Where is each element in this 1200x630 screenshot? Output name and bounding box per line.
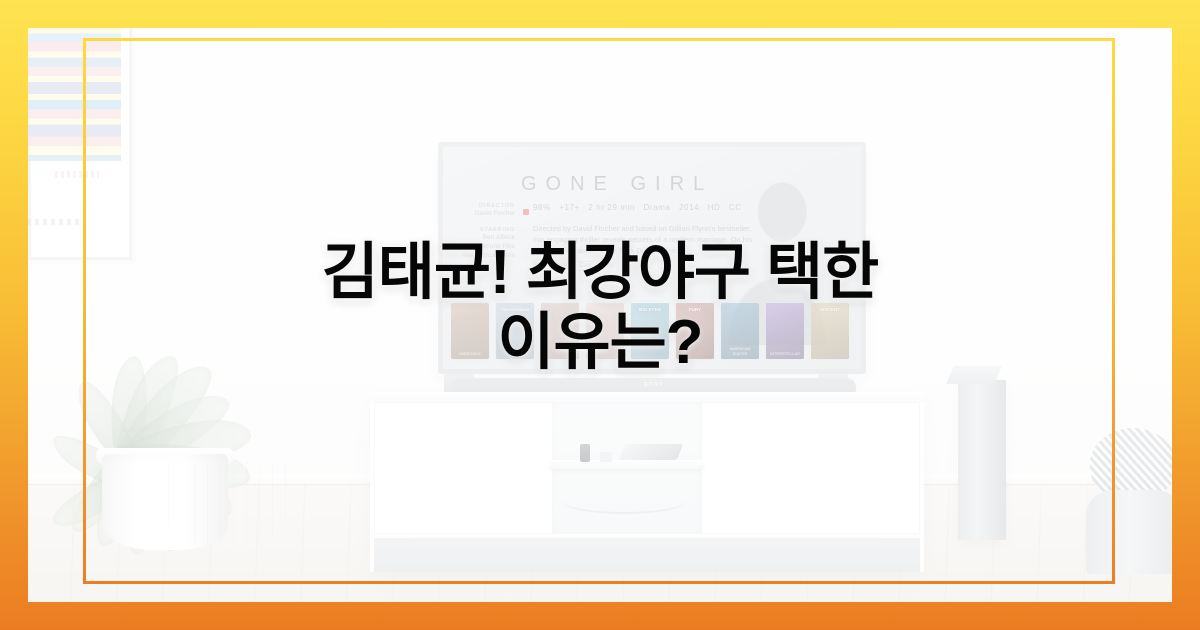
poster-bottom-text: AMERICAN SNIPER	[723, 346, 757, 356]
thumbnail-card: GONE GIRL 98% +17+ 2 hr 29 min Drama 201…	[0, 0, 1200, 630]
credit-value-star-2: Rosamund Pike	[453, 243, 515, 250]
rating-dot-icon	[523, 209, 529, 215]
credit-value-star-1: Ben Affleck	[453, 234, 515, 241]
list-item[interactable]: FURY	[676, 303, 714, 359]
small-device-box	[600, 452, 612, 462]
console-shelf	[550, 460, 704, 469]
console-plinth	[374, 538, 920, 572]
chip-cast[interactable]: Cast	[574, 261, 596, 271]
tv-screen: GONE GIRL 98% +17+ 2 hr 29 min Drama 201…	[443, 147, 861, 369]
age-rating: +17+	[559, 203, 580, 212]
list-item[interactable]: BIG EYES	[631, 303, 669, 359]
artwork-signature	[55, 171, 99, 178]
list-item[interactable]	[586, 303, 624, 359]
genre: Drama	[644, 203, 671, 212]
list-item[interactable]	[541, 303, 579, 359]
list-item[interactable]: AMERICAN SNIPER	[721, 303, 759, 359]
credit-value-director: David Fincher	[453, 210, 515, 217]
television: GONE GIRL 98% +17+ 2 hr 29 min Drama 201…	[438, 142, 866, 374]
chip-watch-trailer[interactable]: Watch Trailer	[533, 262, 568, 270]
duration: 2 hr 29 min	[588, 203, 635, 212]
speaker-top-cap	[946, 366, 1002, 384]
chip-add[interactable]: Add	[602, 262, 613, 270]
tv-console	[370, 392, 924, 572]
photo-plate: GONE GIRL 98% +17+ 2 hr 29 min Drama 201…	[28, 28, 1172, 602]
credit-label-director: DIRECTOR	[453, 203, 515, 209]
list-item[interactable]: VINCENT	[811, 303, 849, 359]
console-top-surface	[370, 392, 924, 402]
laptop	[619, 444, 683, 460]
movie-meta-line: 98% +17+ 2 hr 29 min Drama 2014 HD CC	[533, 203, 742, 212]
hd-badge-icon: HD	[708, 203, 721, 212]
poster-top-text: FURY	[678, 307, 712, 313]
poster-bottom-text: INTERSTELLAR	[768, 351, 802, 356]
credit-label-starring: STARRING	[453, 227, 515, 233]
striped-print-icon	[28, 28, 121, 161]
poster-top-text: The Imitation	[498, 307, 532, 313]
floor-speaker	[958, 380, 1006, 540]
poster-top-text: BIG EYES	[633, 307, 667, 313]
potted-plant	[40, 190, 295, 550]
cc-badge-icon: CC	[729, 203, 742, 212]
list-item[interactable]: MARIGOLD	[451, 303, 489, 359]
knit-pouffe	[1086, 428, 1172, 574]
credit-value-star-3: Neil Patrick Harris	[453, 252, 515, 259]
pouffe-base	[1086, 490, 1172, 574]
cable	[562, 488, 686, 514]
synopsis-more-link[interactable]: more	[658, 246, 675, 255]
movie-hero-title: GONE GIRL	[521, 173, 713, 196]
poster-bottom-text: MARIGOLD	[453, 351, 487, 356]
soundbar-brand-label: SONY	[644, 382, 664, 388]
room-background: GONE GIRL 98% +17+ 2 hr 29 min Drama 201…	[28, 28, 1172, 602]
synopsis-text: Directed by David Fincher and based on G…	[533, 224, 752, 255]
movie-action-chips: Watch Trailer Cast Add	[533, 261, 613, 271]
list-item[interactable]: The Imitation	[496, 303, 534, 359]
year: 2014	[679, 203, 699, 212]
plant-pot-ribbing	[168, 462, 286, 546]
list-item[interactable]: INTERSTELLAR	[766, 303, 804, 359]
remote-control	[580, 444, 590, 462]
plant-pot	[102, 454, 228, 550]
rating-score: 98%	[533, 203, 551, 212]
poster-top-text: VINCENT	[813, 307, 847, 313]
poster-carousel[interactable]: MARIGOLD The Imitation	[451, 303, 853, 359]
movie-synopsis: Directed by David Fincher and based on G…	[533, 223, 757, 256]
